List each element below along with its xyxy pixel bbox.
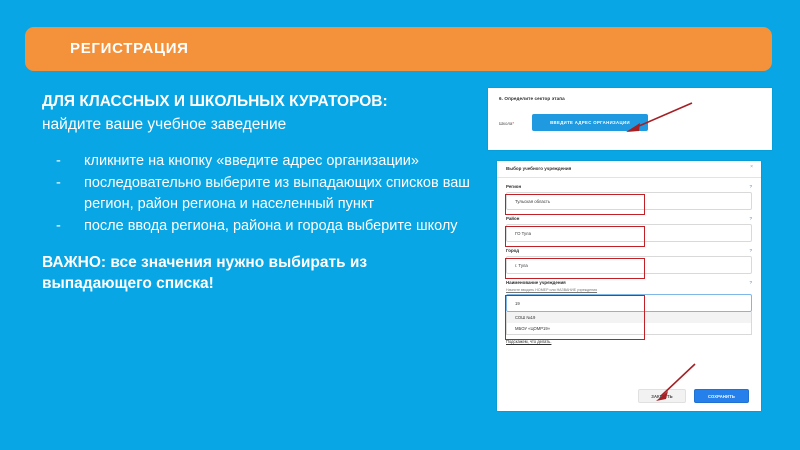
field-group-city: Город ? г. Тула <box>506 248 752 274</box>
close-icon[interactable]: × <box>750 165 753 170</box>
bullet-dash-icon: - <box>56 151 84 172</box>
institution-suggestions: СОШ №19 МБОУ «ЦОМР19» <box>506 312 752 335</box>
field-group-region: Регион ? Тульская область <box>506 184 752 210</box>
lead-subheading: найдите ваше учебное заведение <box>42 115 472 136</box>
bullet-list: - кликните на кнопку «введите адрес орга… <box>42 151 472 237</box>
institution-label: Наименование учреждения <box>506 280 752 285</box>
list-item-text: последовательно выберите из выпадающих с… <box>84 173 472 214</box>
list-item: - последовательно выберите из выпадающих… <box>56 173 472 214</box>
field-group-district: Район ? ГО Тула <box>506 216 752 242</box>
city-input[interactable]: г. Тула <box>506 256 752 274</box>
enter-organization-address-button[interactable]: ВВЕДИТЕ АДРЕС ОРГАНИЗАЦИИ <box>532 114 648 131</box>
screenshot-dialog-panel: Выбор учебного учреждения × Регион ? Тул… <box>497 161 761 411</box>
list-item[interactable]: СОШ №19 <box>507 312 751 323</box>
list-item: - кликните на кнопку «введите адрес орга… <box>56 151 472 172</box>
help-icon[interactable]: ? <box>749 184 752 189</box>
screenshot-form-panel: 6. Определите сектор этапа Школа* ВВЕДИТ… <box>488 88 772 150</box>
title-banner: РЕГИСТРАЦИЯ <box>25 27 772 71</box>
form-question-label: 6. Определите сектор этапа <box>499 96 565 101</box>
bullet-dash-icon: - <box>56 173 84 214</box>
school-field-label-text: Школа <box>499 121 512 126</box>
slide-root: РЕГИСТРАЦИЯ ДЛЯ КЛАССНЫХ И ШКОЛЬНЫХ КУРА… <box>0 0 800 450</box>
instructions-column: ДЛЯ КЛАССНЫХ И ШКОЛЬНЫХ КУРАТОРОВ: найди… <box>42 92 472 295</box>
region-label: Регион <box>506 184 752 189</box>
bullet-dash-icon: - <box>56 216 84 237</box>
district-input[interactable]: ГО Тула <box>506 224 752 242</box>
page-title: РЕГИСТРАЦИЯ <box>70 40 189 57</box>
list-item-text: кликните на кнопку «введите адрес органи… <box>84 151 472 172</box>
dialog-footer: ЗАКРЫТЬ СОХРАНИТЬ <box>497 389 761 403</box>
required-asterisk-icon: * <box>512 121 514 126</box>
list-item[interactable]: МБОУ «ЦОМР19» <box>507 323 751 334</box>
help-icon[interactable]: ? <box>749 216 752 221</box>
list-item: - после ввода региона, района и города в… <box>56 216 472 237</box>
dialog-body: Регион ? Тульская область Район ? ГО Тул… <box>497 184 761 344</box>
important-note: ВАЖНО: все значения нужно выбирать из вы… <box>42 253 457 295</box>
close-button[interactable]: ЗАКРЫТЬ <box>638 389 686 403</box>
help-link[interactable]: Подскажем, что делать. <box>506 339 752 344</box>
district-label: Район <box>506 216 752 221</box>
institution-input[interactable]: 19 <box>506 294 752 312</box>
region-input[interactable]: Тульская область <box>506 192 752 210</box>
dialog-header: Выбор учебного учреждения × <box>497 161 761 178</box>
help-icon[interactable]: ? <box>749 280 752 285</box>
school-field-label: Школа* <box>499 121 514 126</box>
dialog-title: Выбор учебного учреждения <box>506 166 571 171</box>
city-label: Город <box>506 248 752 253</box>
save-button[interactable]: СОХРАНИТЬ <box>694 389 749 403</box>
help-icon[interactable]: ? <box>749 248 752 253</box>
institution-hint: Начните вводить НОМЕР или НАЗВАНИЕ учреж… <box>506 288 752 292</box>
field-group-institution: Наименование учреждения ? Начните вводит… <box>506 280 752 335</box>
list-item-text: после ввода региона, района и города выб… <box>84 216 472 237</box>
lead-heading: ДЛЯ КЛАССНЫХ И ШКОЛЬНЫХ КУРАТОРОВ: <box>42 92 472 112</box>
